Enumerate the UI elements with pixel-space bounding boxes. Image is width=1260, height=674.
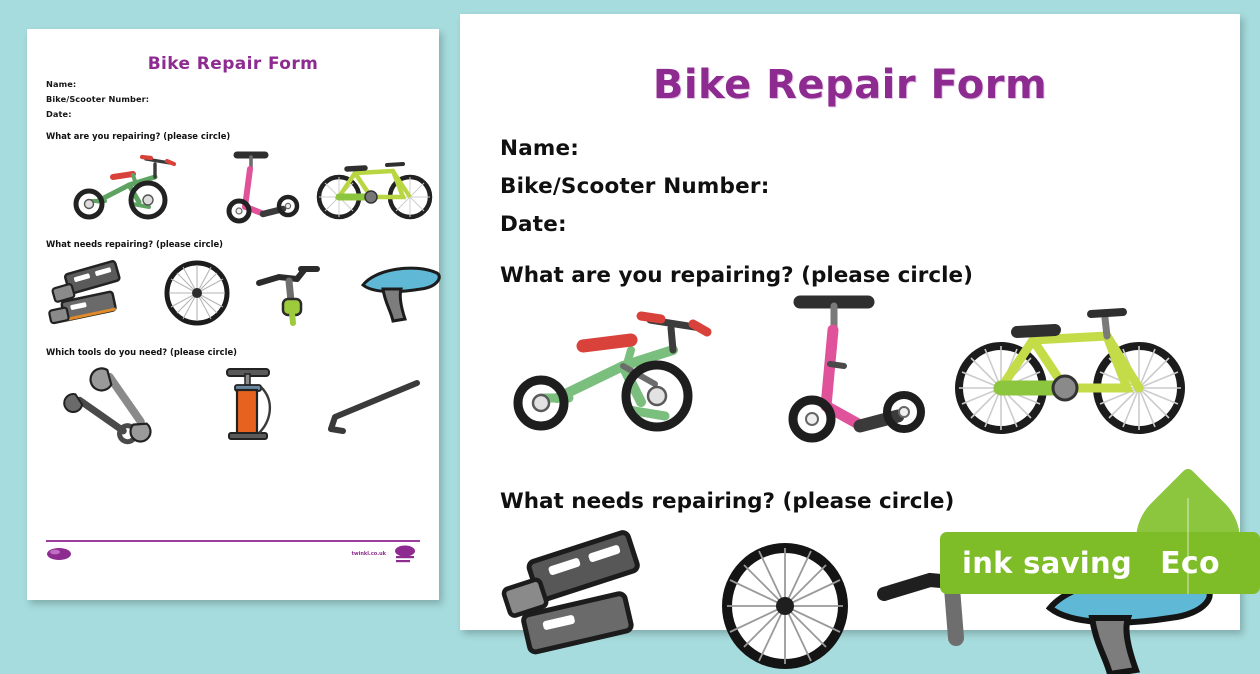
spanners-icon xyxy=(57,379,167,437)
thumbnail-field-date: Date: xyxy=(46,109,439,119)
thumbnail-vehicle-row xyxy=(27,145,439,227)
thumbnail-footer-rule xyxy=(46,540,420,542)
page-vehicle-row xyxy=(460,288,1240,463)
thumbnail-question-3: Which tools do you need? (please circle) xyxy=(46,347,439,357)
page-field-name: Name: xyxy=(500,136,1240,161)
scooter-icon xyxy=(219,145,303,225)
wheel-icon xyxy=(163,259,231,327)
ink-saving-label: ink saving xyxy=(962,546,1132,580)
bicycle-icon xyxy=(315,153,435,221)
scooter-illustration xyxy=(770,288,930,458)
bicycle-illustration xyxy=(955,302,1185,437)
wheel-illustration xyxy=(715,536,855,656)
thumbnail-tools-row xyxy=(27,361,439,443)
page-field-date: Date: xyxy=(500,212,1240,237)
handlebars-icon xyxy=(253,261,325,327)
twinkl-logo-icon xyxy=(46,547,72,561)
thumbnail-page-preview[interactable]: Bike Repair Form Name: Bike/Scooter Numb… xyxy=(27,29,439,600)
thumbnail-question-1: What are you repairing? (please circle) xyxy=(46,131,439,141)
page-question-1: What are you repairing? (please circle) xyxy=(500,263,1240,288)
saddle-icon xyxy=(357,259,447,325)
page-question-2: What needs repairing? (please circle) xyxy=(500,489,1240,514)
pedals-icon xyxy=(49,263,144,325)
screenshot-stage: Bike Repair Form Name: Bike/Scooter Numb… xyxy=(0,0,1260,630)
page-field-bike-number: Bike/Scooter Number: xyxy=(500,174,1240,199)
thumbnail-field-bike-number: Bike/Scooter Number: xyxy=(46,94,439,104)
page-title: Bike Repair Form xyxy=(460,62,1240,108)
eco-badge-text: ink saving Eco xyxy=(940,532,1260,594)
thumbnail-footer: twinkl.co.uk xyxy=(46,540,420,574)
pedals-illustration xyxy=(505,536,685,656)
thumbnail-parts-row xyxy=(27,253,439,335)
eco-label: Eco xyxy=(1160,546,1220,581)
bike-pump-icon xyxy=(217,365,277,447)
thumbnail-title: Bike Repair Form xyxy=(27,54,439,74)
tricycle-icon xyxy=(67,150,192,222)
thumbnail-footer-credit: twinkl.co.uk xyxy=(352,551,386,557)
thumbnail-field-name: Name: xyxy=(46,79,439,89)
allen-key-icon xyxy=(317,377,427,439)
twinkl-badge-icon xyxy=(390,544,420,566)
thumbnail-question-2: What needs repairing? (please circle) xyxy=(46,239,439,249)
ink-saving-eco-badge: ink saving Eco xyxy=(940,532,1260,594)
tricycle-illustration xyxy=(505,306,725,436)
